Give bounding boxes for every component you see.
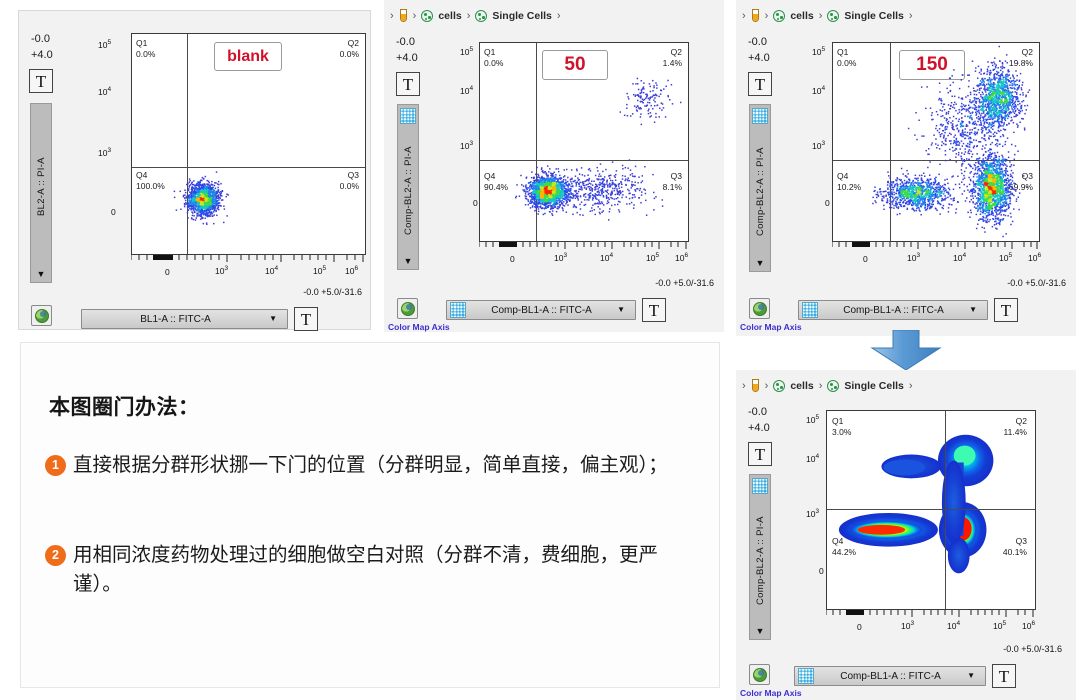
breadcrumb-sep-1: › (765, 10, 769, 22)
quadrant-q4: Q4 44.2% (832, 536, 856, 557)
x-axis-parameter-label: BL1-A :: FITC-A (82, 314, 269, 325)
scatter-plot-area[interactable]: Q1 0.0% Q2 1.4% Q3 8.1% Q4 90.4% 50 (479, 42, 689, 242)
q3-name: Q3 (348, 170, 359, 180)
q3-percent: 8.1% (663, 182, 682, 193)
x-tick-0: 0 (863, 254, 868, 264)
quadrant-q1: Q1 3.0% (832, 416, 851, 437)
tube-icon (399, 9, 408, 23)
x-tick-1e6: 106 (1022, 620, 1035, 631)
x-tick-1e3: 103 (215, 265, 228, 276)
q1-percent: 0.0% (484, 58, 503, 69)
breadcrumb: › › cells › Single Cells › (742, 6, 1072, 26)
y-axis-parameter-track[interactable]: Comp-BL2-A :: PI-A ▼ (749, 104, 771, 272)
quadrant-horizontal-line (827, 509, 1035, 510)
color-grid-icon (798, 668, 814, 684)
y-tick-1e4: 104 (460, 85, 473, 96)
notes-title: 本图圈门办法： (49, 391, 200, 421)
quadrant-vertical-line (890, 43, 891, 241)
breadcrumb-sep-2: › (467, 10, 471, 22)
axis-range-footer: -0.0 +5.0/-31.6 (303, 287, 362, 297)
breadcrumb-sep-3: › (557, 10, 561, 22)
quadrant-q2: Q2 19.8% (1009, 47, 1033, 68)
tube-icon (751, 379, 760, 393)
color-map-axis-label[interactable]: Color Map Axis (388, 322, 450, 332)
chevron-down-icon[interactable]: ▼ (269, 315, 277, 323)
breadcrumb-sep-0: › (742, 10, 746, 22)
x-axis-parameter-bar: Comp-BL1-A :: FITC-A ▼ T (794, 664, 1016, 688)
color-map-button[interactable] (749, 664, 770, 685)
quadrant-vertical-line (536, 43, 537, 241)
globe-icon (401, 302, 415, 316)
y-tick-1e4: 104 (812, 85, 825, 96)
q4-name: Q4 (837, 171, 848, 181)
cell-icon-single-cells (475, 10, 487, 22)
q2-name: Q2 (671, 47, 682, 57)
q1-percent: 0.0% (136, 49, 155, 60)
rail-bottom-value: +4.0 (748, 52, 770, 64)
x-axis-transform-button[interactable]: T (642, 298, 666, 322)
y-tick-0: 0 (825, 198, 830, 208)
color-map-axis-label[interactable]: Color Map Axis (740, 688, 802, 698)
cell-icon-cells (421, 10, 433, 22)
breadcrumb-sep-3: › (909, 380, 913, 392)
y-tick-1e3: 103 (806, 508, 819, 519)
x-axis-parameter-label: Comp-BL1-A :: FITC-A (466, 305, 617, 316)
q2-name: Q2 (348, 38, 359, 48)
rail-top-value: -0.0 (31, 33, 50, 45)
notes-item-1: 1 直接根据分群形状挪一下门的位置（分群明显，简单直接，偏主观）； (45, 451, 697, 480)
quadrant-q1: Q1 0.0% (136, 38, 155, 59)
cell-icon-single-cells (827, 380, 839, 392)
color-grid-icon (752, 108, 768, 124)
x-tick-1e6: 106 (675, 252, 688, 263)
color-grid-icon (802, 302, 818, 318)
chevron-down-icon[interactable]: ▼ (969, 306, 977, 314)
y-tick-1e3: 103 (98, 147, 111, 158)
quadrant-q2: Q2 0.0% (340, 38, 359, 59)
y-axis-dropdown-caret[interactable]: ▼ (756, 627, 765, 636)
x-tick-1e4: 104 (600, 252, 613, 263)
y-tick-1e5: 105 (812, 46, 825, 57)
x-axis-parameter-label: Comp-BL1-A :: FITC-A (818, 305, 969, 316)
flow-arrow-down-icon (864, 330, 948, 370)
q2-percent: 0.0% (340, 49, 359, 60)
quadrant-q4: Q4 100.0% (136, 170, 165, 191)
x-axis-transform-button[interactable]: T (294, 307, 318, 331)
chevron-down-icon[interactable]: ▼ (617, 306, 625, 314)
q3-name: Q3 (1016, 536, 1027, 546)
rail-bottom-value: +4.0 (31, 49, 53, 61)
q4-percent: 90.4% (484, 182, 508, 193)
breadcrumb-sep-1: › (413, 10, 417, 22)
y-tick-1e4: 104 (806, 453, 819, 464)
scatter-plot-area[interactable]: Q1 0.0% Q2 19.8% Q3 69.9% Q4 10.2% 150 (832, 42, 1040, 242)
tube-icon (751, 9, 760, 23)
quadrant-q3: Q3 69.9% (1009, 171, 1033, 192)
y-axis-dropdown-caret[interactable]: ▼ (37, 270, 46, 279)
y-tick-1e3: 103 (812, 140, 825, 151)
breadcrumb-item-single-cells[interactable]: Single Cells (844, 380, 904, 392)
q4-percent: 44.2% (832, 547, 856, 558)
breadcrumb-sep-1: › (765, 380, 769, 392)
notes-item-2: 2 用相同浓度药物处理过的细胞做空白对照（分群不清，费细胞，更严谨）。 (45, 541, 697, 600)
q3-percent: 40.1% (1003, 547, 1027, 558)
y-axis-transform-button[interactable]: T (396, 72, 420, 96)
x-axis-transform-button[interactable]: T (992, 664, 1016, 688)
y-axis-parameter-track[interactable]: Comp-BL2-A :: PI-A ▼ (397, 104, 419, 270)
x-axis-ticks (131, 255, 367, 263)
quadrant-horizontal-line (833, 160, 1039, 161)
q4-percent: 10.2% (837, 182, 861, 193)
y-axis-transform-button[interactable]: T (748, 72, 772, 96)
quadrant-q3: Q3 8.1% (663, 171, 682, 192)
cell-icon-cells (773, 380, 785, 392)
rail-top-value: -0.0 (748, 36, 767, 48)
cell-icon-cells (773, 10, 785, 22)
q2-name: Q2 (1016, 416, 1027, 426)
x-axis-transform-button[interactable]: T (994, 298, 1018, 322)
x-axis-ticks (832, 242, 1041, 250)
breadcrumb-sep-2: › (819, 380, 823, 392)
breadcrumb-sep-0: › (742, 380, 746, 392)
x-tick-0: 0 (165, 267, 170, 277)
breadcrumb-item-single-cells[interactable]: Single Cells (492, 10, 552, 22)
quadrant-vertical-line (187, 34, 188, 254)
x-tick-1e6: 106 (345, 265, 358, 276)
q1-name: Q1 (837, 47, 848, 57)
y-tick-0: 0 (819, 566, 824, 576)
q4-name: Q4 (484, 171, 495, 181)
x-axis-ticks (479, 242, 690, 250)
q4-name: Q4 (832, 536, 843, 546)
y-axis-label: Comp-BL2-A :: PI-A (403, 124, 414, 257)
x-tick-0: 0 (510, 254, 515, 264)
x-tick-1e4: 104 (947, 620, 960, 631)
y-tick-1e5: 105 (460, 46, 473, 57)
panel-density: › › cells › Single Cells › -0.0 +4.0 T C… (736, 370, 1076, 700)
axis-range-footer: -0.0 +5.0/-31.6 (655, 278, 714, 288)
quadrant-q1: Q1 0.0% (837, 47, 856, 68)
density-plot-area[interactable]: Q1 3.0% Q2 11.4% Q3 40.1% Q4 44.2% (826, 410, 1036, 610)
breadcrumb-item-single-cells[interactable]: Single Cells (844, 10, 904, 22)
x-tick-1e4: 104 (953, 252, 966, 263)
color-grid-icon (400, 108, 416, 124)
density-contours (827, 411, 1035, 609)
panel-blank: -0.0 +4.0 T BL2-A :: PI-A ▼ 105 104 103 … (18, 10, 371, 330)
color-map-axis-label[interactable]: Color Map Axis (740, 322, 802, 332)
q3-name: Q3 (1022, 171, 1033, 181)
quadrant-vertical-line (945, 411, 946, 609)
x-tick-1e3: 103 (554, 252, 567, 263)
axis-range-footer: -0.0 +5.0/-31.6 (1007, 278, 1066, 288)
x-tick-1e3: 103 (907, 252, 920, 263)
y-tick-1e3: 103 (460, 140, 473, 151)
x-axis-parameter-label: Comp-BL1-A :: FITC-A (814, 671, 967, 682)
rail-top-value: -0.0 (396, 36, 415, 48)
q2-percent: 1.4% (663, 58, 682, 69)
scatter-plot-area[interactable]: Q1 0.0% Q2 0.0% Q3 0.0% Q4 100.0% blank (131, 33, 366, 255)
y-axis-label: Comp-BL2-A :: PI-A (755, 124, 766, 259)
quadrant-horizontal-line (132, 167, 365, 168)
q2-name: Q2 (1022, 47, 1033, 57)
x-tick-1e5: 105 (646, 252, 659, 263)
breadcrumb-sep-3: › (909, 10, 913, 22)
globe-icon (753, 302, 767, 316)
panel-50: › › cells › Single Cells › -0.0 +4.0 T C… (384, 0, 724, 332)
x-axis-parameter-combo[interactable]: Comp-BL1-A :: FITC-A ▼ (798, 300, 988, 320)
y-tick-0: 0 (111, 207, 116, 217)
cell-icon-single-cells (827, 10, 839, 22)
quadrant-q3: Q3 0.0% (340, 170, 359, 191)
breadcrumb-sep-2: › (819, 10, 823, 22)
x-axis-parameter-combo[interactable]: Comp-BL1-A :: FITC-A ▼ (794, 666, 986, 686)
sample-badge: blank (214, 42, 282, 71)
y-axis-dropdown-caret[interactable]: ▼ (404, 257, 413, 266)
breadcrumb: › › cells › Single Cells › (742, 376, 1072, 396)
q3-name: Q3 (671, 171, 682, 181)
q1-name: Q1 (484, 47, 495, 57)
color-map-button[interactable] (397, 298, 418, 319)
notes-item-1-text: 直接根据分群形状挪一下门的位置（分群明显，简单直接，偏主观）； (73, 451, 668, 480)
quadrant-q1: Q1 0.0% (484, 47, 503, 68)
q3-percent: 69.9% (1009, 182, 1033, 193)
x-axis-parameter-combo[interactable]: BL1-A :: FITC-A ▼ (81, 309, 288, 329)
y-tick-1e5: 105 (806, 414, 819, 425)
y-tick-1e5: 105 (98, 39, 111, 50)
q1-percent: 0.0% (837, 58, 856, 69)
x-tick-1e5: 105 (999, 252, 1012, 263)
color-grid-icon (450, 302, 466, 318)
breadcrumb-item-cells[interactable]: cells (790, 380, 813, 392)
chevron-down-icon[interactable]: ▼ (967, 672, 975, 680)
color-map-button[interactable] (749, 298, 770, 319)
y-axis-transform-button[interactable]: T (748, 442, 772, 466)
panel-150: › › cells › Single Cells › -0.0 +4.0 T C… (736, 0, 1076, 336)
globe-icon (753, 668, 767, 682)
quadrant-q2: Q2 11.4% (1004, 416, 1027, 437)
y-axis-dropdown-caret[interactable]: ▼ (756, 259, 765, 268)
color-map-button[interactable] (31, 305, 52, 326)
x-tick-0: 0 (857, 622, 862, 632)
x-tick-1e4: 104 (265, 265, 278, 276)
x-tick-1e3: 103 (901, 620, 914, 631)
globe-icon (35, 309, 49, 323)
breadcrumb-sep-0: › (390, 10, 394, 22)
q1-name: Q1 (136, 38, 147, 48)
q1-name: Q1 (832, 416, 843, 426)
y-axis-transform-button[interactable]: T (29, 69, 53, 93)
x-tick-1e5: 105 (313, 265, 326, 276)
color-grid-icon (752, 478, 768, 494)
q2-percent: 19.8% (1009, 58, 1033, 69)
x-axis-parameter-bar: BL1-A :: FITC-A ▼ T (81, 307, 318, 331)
x-tick-1e5: 105 (993, 620, 1006, 631)
notes-card: 本图圈门办法： 1 直接根据分群形状挪一下门的位置（分群明显，简单直接，偏主观）… (20, 342, 720, 688)
quadrant-q4: Q4 90.4% (484, 171, 508, 192)
quadrant-q2: Q2 1.4% (663, 47, 682, 68)
q4-name: Q4 (136, 170, 147, 180)
quadrant-q3: Q3 40.1% (1003, 536, 1027, 557)
y-tick-0: 0 (473, 198, 478, 208)
y-tick-1e4: 104 (98, 86, 111, 97)
axis-range-footer: -0.0 +5.0/-31.6 (1003, 644, 1062, 654)
notes-item-2-text: 用相同浓度药物处理过的细胞做空白对照（分群不清，费细胞，更严谨）。 (73, 541, 697, 600)
rail-top-value: -0.0 (748, 406, 767, 418)
bullet-2: 2 (45, 545, 66, 566)
q2-percent: 11.4% (1004, 427, 1027, 438)
x-axis-parameter-combo[interactable]: Comp-BL1-A :: FITC-A ▼ (446, 300, 636, 320)
rail-bottom-value: +4.0 (748, 422, 770, 434)
y-axis-parameter-track[interactable]: BL2-A :: PI-A ▼ (30, 103, 52, 283)
q4-percent: 100.0% (136, 181, 165, 192)
sample-badge: 150 (899, 50, 965, 80)
breadcrumb-item-cells[interactable]: cells (790, 10, 813, 22)
breadcrumb: › › cells › Single Cells › (390, 6, 720, 26)
y-axis-label: Comp-BL2-A :: PI-A (755, 494, 766, 627)
x-axis-ticks (826, 610, 1037, 618)
quadrant-horizontal-line (480, 160, 688, 161)
sample-badge: 50 (542, 50, 608, 80)
bullet-1: 1 (45, 455, 66, 476)
breadcrumb-item-cells[interactable]: cells (438, 10, 461, 22)
rail-bottom-value: +4.0 (396, 52, 418, 64)
q1-percent: 3.0% (832, 427, 851, 438)
x-tick-1e6: 106 (1028, 252, 1041, 263)
x-axis-parameter-bar: Comp-BL1-A :: FITC-A ▼ T (446, 298, 666, 322)
y-axis-label: BL2-A :: PI-A (36, 104, 47, 270)
x-axis-parameter-bar: Comp-BL1-A :: FITC-A ▼ T (798, 298, 1018, 322)
quadrant-q4: Q4 10.2% (837, 171, 861, 192)
q3-percent: 0.0% (340, 181, 359, 192)
y-axis-parameter-track[interactable]: Comp-BL2-A :: PI-A ▼ (749, 474, 771, 640)
